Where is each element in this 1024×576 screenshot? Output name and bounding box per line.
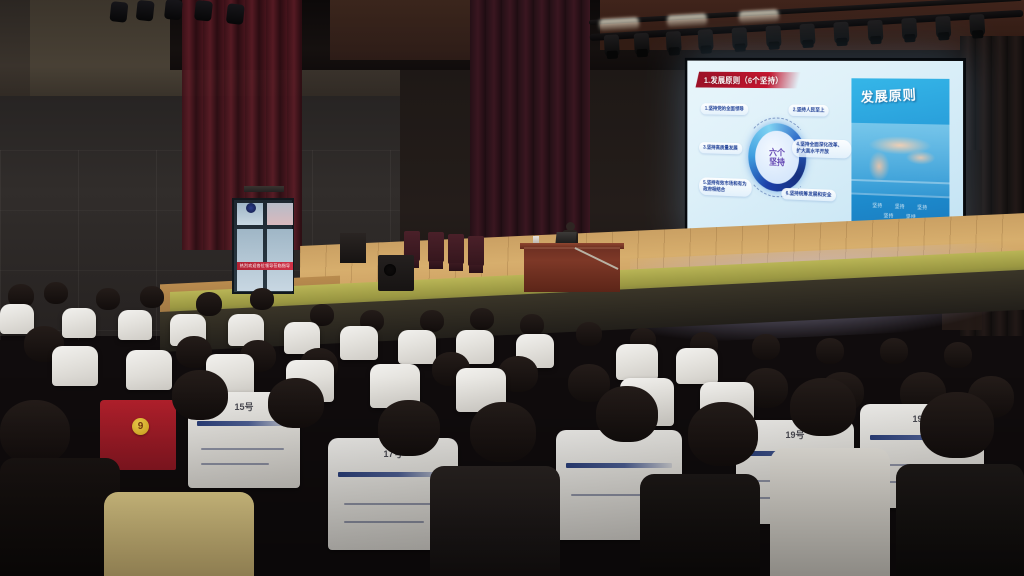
principle-item-1: 1.坚持党的全面领导	[701, 103, 748, 115]
audience-head	[790, 378, 856, 436]
audience-head	[420, 310, 444, 332]
audience-head	[470, 402, 536, 462]
stage-light-icon	[867, 20, 883, 43]
watermark-word: 坚持	[917, 204, 927, 211]
audience-person	[0, 458, 120, 576]
diagram-center-line1: 六个	[769, 148, 785, 157]
watermark-word: 坚持	[895, 203, 905, 210]
six-principles-diagram: 六个 坚持 1.坚持党的全面领导 2.坚持人民至上 3.坚持高质量发展 4.坚持…	[699, 101, 857, 218]
audience-head	[752, 334, 780, 360]
stage-light-icon	[969, 14, 985, 37]
audience-person	[430, 466, 560, 576]
slide-side-image: 发展原则 坚持 坚持 坚持 坚持 坚持 坚持	[851, 78, 949, 238]
stage-light-glow	[599, 17, 640, 31]
stage-light-icon	[698, 29, 714, 52]
seat-cover	[676, 348, 718, 384]
principle-item-5: 5.坚持有效市场和有为政府相结合	[699, 177, 752, 197]
stage-light-icon	[226, 3, 245, 25]
audience-head	[172, 370, 228, 420]
stage-light-icon	[901, 18, 917, 41]
stage-light-icon	[765, 25, 781, 48]
door-light-fixture	[244, 186, 284, 192]
audience-head	[520, 314, 544, 336]
seat-cover	[118, 310, 152, 340]
stage-light-icon	[109, 1, 128, 23]
audience-head	[470, 308, 494, 330]
audience-person	[640, 474, 760, 576]
slide-title-banner: 1.发展原则（6个坚持）	[696, 72, 801, 89]
diagram-center: 六个 坚持	[755, 130, 799, 184]
stage-light-icon	[604, 34, 620, 57]
audience-head	[196, 292, 222, 316]
audience-person	[104, 492, 254, 576]
stage-light-glow	[667, 13, 708, 27]
stage-light-icon	[666, 31, 682, 54]
seat-cover	[616, 344, 658, 380]
door-sign-icon	[246, 203, 256, 213]
stage-light-icon	[164, 0, 183, 20]
stage-light-icon	[731, 27, 747, 50]
audience-head	[96, 288, 120, 310]
seat-number-badge: 9	[132, 418, 149, 435]
stage-light-icon	[833, 22, 849, 45]
audience-area: 9 15号 17号 19号 19号	[0, 252, 1024, 576]
audience-head	[920, 392, 994, 458]
principle-item-4: 4.坚持全面深化改革、扩大高水平开放	[792, 139, 851, 159]
seat-cover	[62, 308, 96, 338]
swimmer-photo	[851, 123, 949, 197]
slide-title: 1.发展原则（6个坚持）	[704, 74, 783, 86]
auditorium-scene: 1.发展原则（6个坚持） 六个 坚持 1.坚持党的全面领导 2.坚持人民至上 3…	[0, 0, 1024, 576]
audience-head	[576, 322, 602, 346]
audience-head	[944, 342, 972, 368]
seat-cover-text-line	[344, 503, 440, 505]
seat-cover	[52, 346, 98, 386]
audience-head	[688, 402, 758, 466]
audience-head	[140, 286, 164, 308]
stage-light-icon	[634, 33, 650, 56]
seat-cover	[340, 326, 378, 360]
seat-cover-logo	[566, 463, 672, 468]
audience-head	[596, 386, 658, 442]
diagram-center-line2: 坚持	[769, 158, 785, 167]
seat-cover	[126, 350, 172, 390]
seat-cover-text-line	[201, 448, 284, 450]
audience-head	[268, 378, 324, 428]
seat-cover-text-line	[344, 521, 425, 523]
door-pane	[267, 203, 293, 225]
audience-person	[896, 464, 1024, 576]
audience-head	[816, 338, 844, 364]
audience-head	[378, 400, 440, 456]
seat-cover-text-line	[201, 463, 268, 465]
diagram-ring: 六个 坚持	[748, 123, 806, 193]
stage-light-icon	[799, 23, 815, 46]
principle-item-6: 6.坚持统筹发展和安全	[781, 188, 836, 202]
seat-number-label: 15号	[234, 400, 253, 413]
seat-cover	[0, 304, 34, 334]
principle-item-2: 2.坚持人民至上	[788, 104, 829, 116]
watermark-word: 坚持	[872, 202, 882, 209]
audience-head	[250, 288, 274, 310]
audience-head	[880, 338, 908, 364]
slide-side-heading: 发展原则	[860, 83, 944, 107]
seat-cover	[398, 330, 436, 364]
audience-person	[770, 448, 890, 576]
stage-light-glow	[739, 9, 780, 23]
stage-light-icon	[194, 0, 213, 22]
principle-item-3: 3.坚持高质量发展	[699, 142, 742, 154]
audience-head	[0, 400, 70, 464]
audience-head	[44, 282, 68, 304]
stage-light-icon	[935, 16, 951, 39]
stage-light-icon	[136, 0, 155, 21]
